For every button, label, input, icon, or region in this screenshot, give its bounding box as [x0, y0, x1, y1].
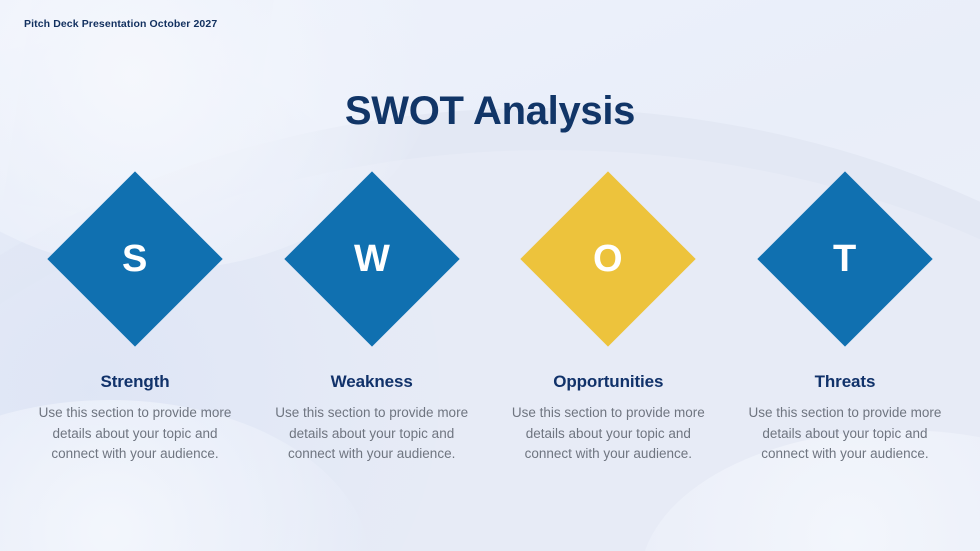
slide-kicker: Pitch Deck Presentation October 2027 [24, 18, 217, 30]
swot-quadrant-threats: T Threats Use this section to provide mo… [732, 168, 958, 465]
diamond-shape-threats[interactable]: T [757, 171, 932, 346]
quadrant-title-strength: Strength [100, 372, 169, 392]
diamond-wrap-strength: S [45, 168, 225, 350]
swot-quadrant-weakness: W Weakness Use this section to provide m… [259, 168, 485, 465]
quadrant-title-threats: Threats [815, 372, 876, 392]
quadrant-title-opportunities: Opportunities [553, 372, 663, 392]
swot-analysis-slide: Pitch Deck Presentation October 2027 SWO… [0, 0, 980, 551]
diamond-letter-weakness: W [353, 240, 389, 278]
quadrant-description-weakness: Use this section to provide more details… [274, 403, 470, 465]
diamond-letter-strength: S [122, 240, 148, 278]
swot-quadrant-strength: S Strength Use this section to provide m… [22, 168, 248, 465]
diamond-shape-weakness[interactable]: W [284, 171, 459, 346]
diamond-shape-opportunities[interactable]: O [521, 171, 696, 346]
diamond-letter-opportunities: O [593, 240, 623, 278]
quadrant-description-strength: Use this section to provide more details… [37, 403, 233, 465]
swot-quadrant-opportunities: O Opportunities Use this section to prov… [495, 168, 721, 465]
diamond-wrap-threats: T [755, 168, 935, 350]
diamond-wrap-weakness: W [282, 168, 462, 350]
diamond-shape-strength[interactable]: S [47, 171, 222, 346]
quadrant-description-opportunities: Use this section to provide more details… [510, 403, 706, 465]
quadrant-description-threats: Use this section to provide more details… [747, 403, 943, 465]
diamond-letter-threats: T [833, 240, 857, 278]
quadrant-title-weakness: Weakness [331, 372, 413, 392]
page-title: SWOT Analysis [0, 89, 980, 134]
swot-quadrant-row: S Strength Use this section to provide m… [0, 168, 980, 465]
diamond-wrap-opportunities: O [518, 168, 698, 350]
